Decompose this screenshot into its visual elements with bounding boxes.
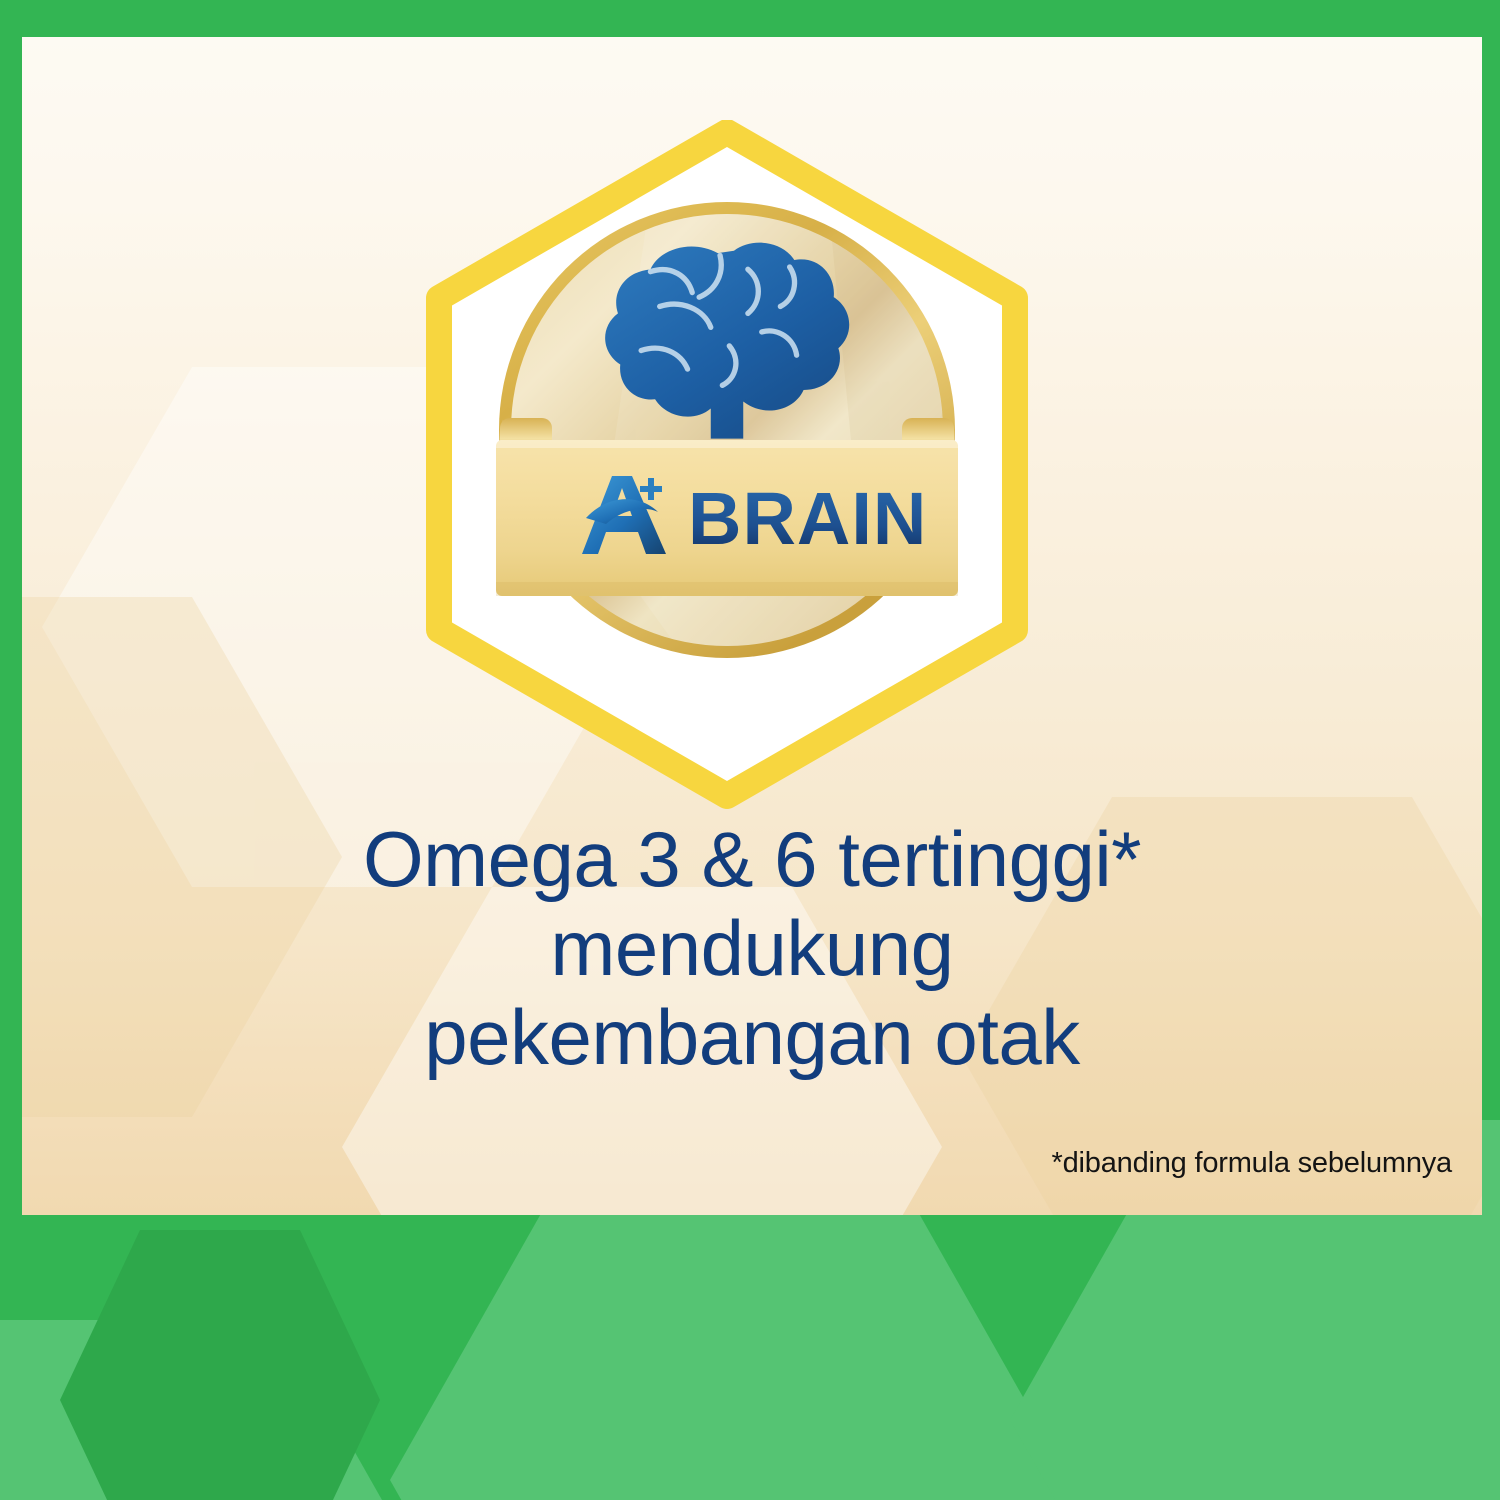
brain-wordmark: BRAIN: [688, 477, 927, 560]
poster-root: BRAIN Omega 3 & 6 tertinggi* mendukung p…: [0, 0, 1500, 1500]
page-headline: Omega 3 & 6 tertinggi* mendukung pekemba…: [22, 815, 1482, 1082]
content-panel: BRAIN Omega 3 & 6 tertinggi* mendukung p…: [22, 37, 1482, 1215]
footnote-disclaimer: *dibanding formula sebelumnya: [1052, 1147, 1452, 1180]
a-plus-brain-badge: BRAIN: [400, 120, 1054, 820]
